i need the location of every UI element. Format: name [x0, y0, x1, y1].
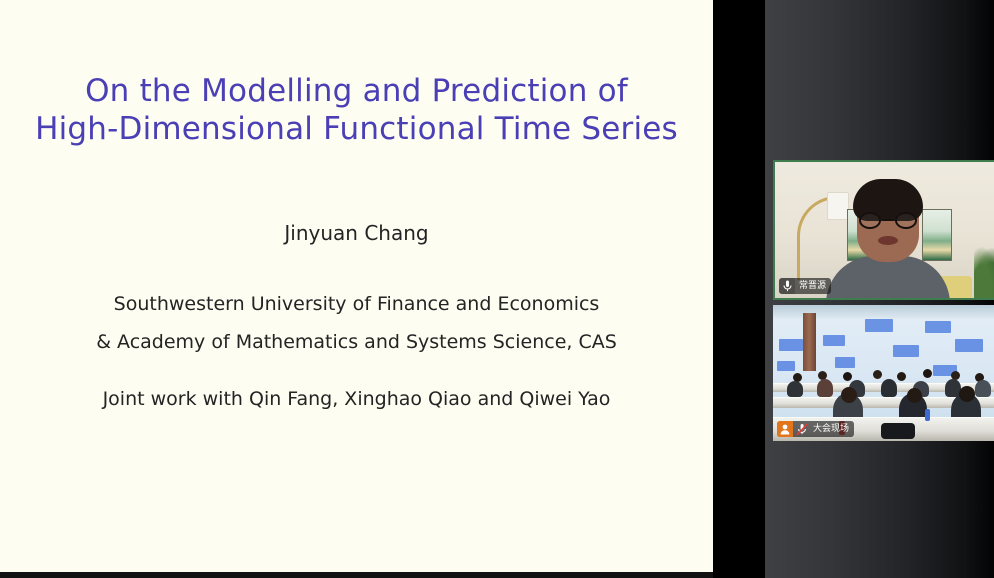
conference-room-name-badge: 大会现场 [777, 421, 854, 437]
video-tile-conference-room[interactable]: 大会现场 [773, 305, 994, 441]
microphone-icon[interactable] [779, 278, 795, 294]
slide-title: On the Modelling and Prediction of High-… [0, 72, 713, 148]
audience-head [873, 370, 882, 379]
shared-screen-slide[interactable]: On the Modelling and Prediction of High-… [0, 0, 713, 572]
audience-head-front [959, 386, 975, 402]
hall-column [803, 313, 816, 371]
arc-lamp-shade [827, 192, 849, 220]
speaker-name-label: 常晋源 [798, 282, 826, 291]
wall-panel [893, 345, 919, 357]
slide-author: Jinyuan Chang [0, 221, 713, 245]
slide-title-line-1: On the Modelling and Prediction of [85, 73, 628, 109]
speaker-name-badge: 常晋源 [779, 278, 831, 294]
audience-person [817, 379, 833, 397]
audience-person [787, 381, 803, 397]
video-conference-screen: On the Modelling and Prediction of High-… [0, 0, 994, 578]
wall-panel [835, 357, 855, 368]
wall-panel [865, 319, 893, 332]
audience-head-front [841, 387, 857, 403]
audience-head-front [907, 388, 922, 403]
video-tile-speaker[interactable]: 常晋源 [773, 160, 994, 300]
audience-head [923, 369, 932, 378]
framed-painting-right [922, 209, 952, 261]
audience-person [881, 379, 897, 397]
eyeglasses-icon [859, 212, 917, 229]
slide-affiliation: Southwestern University of Finance and E… [0, 285, 713, 361]
wall-panel [777, 361, 795, 371]
speaker-mouth [878, 236, 898, 245]
slide-bottom-edge [0, 572, 713, 578]
audience-head [897, 372, 906, 381]
microphone-muted-icon[interactable] [796, 423, 809, 436]
letterbox-gutter [713, 0, 765, 578]
wall-panel [925, 321, 951, 333]
slide-title-line-2: High-Dimensional Functional Time Series [0, 110, 713, 148]
house-plant [974, 246, 994, 298]
water-bottle [925, 409, 930, 421]
audience-person [975, 380, 991, 397]
host-person-icon [777, 421, 793, 437]
conference-room-name-label: 大会现场 [812, 425, 849, 434]
slide-affiliation-line-2: & Academy of Mathematics and Systems Sci… [0, 323, 713, 361]
audience-head [843, 372, 852, 381]
slide-affiliation-line-1: Southwestern University of Finance and E… [0, 285, 713, 323]
slide-joint-work: Joint work with Qin Fang, Xinghao Qiao a… [0, 388, 713, 410]
wall-panel [823, 335, 845, 346]
wall-panel [955, 339, 983, 352]
wall-panel [779, 339, 803, 351]
bag-on-desk [881, 423, 915, 439]
participant-video-panel[interactable]: 常晋源 [765, 0, 994, 578]
